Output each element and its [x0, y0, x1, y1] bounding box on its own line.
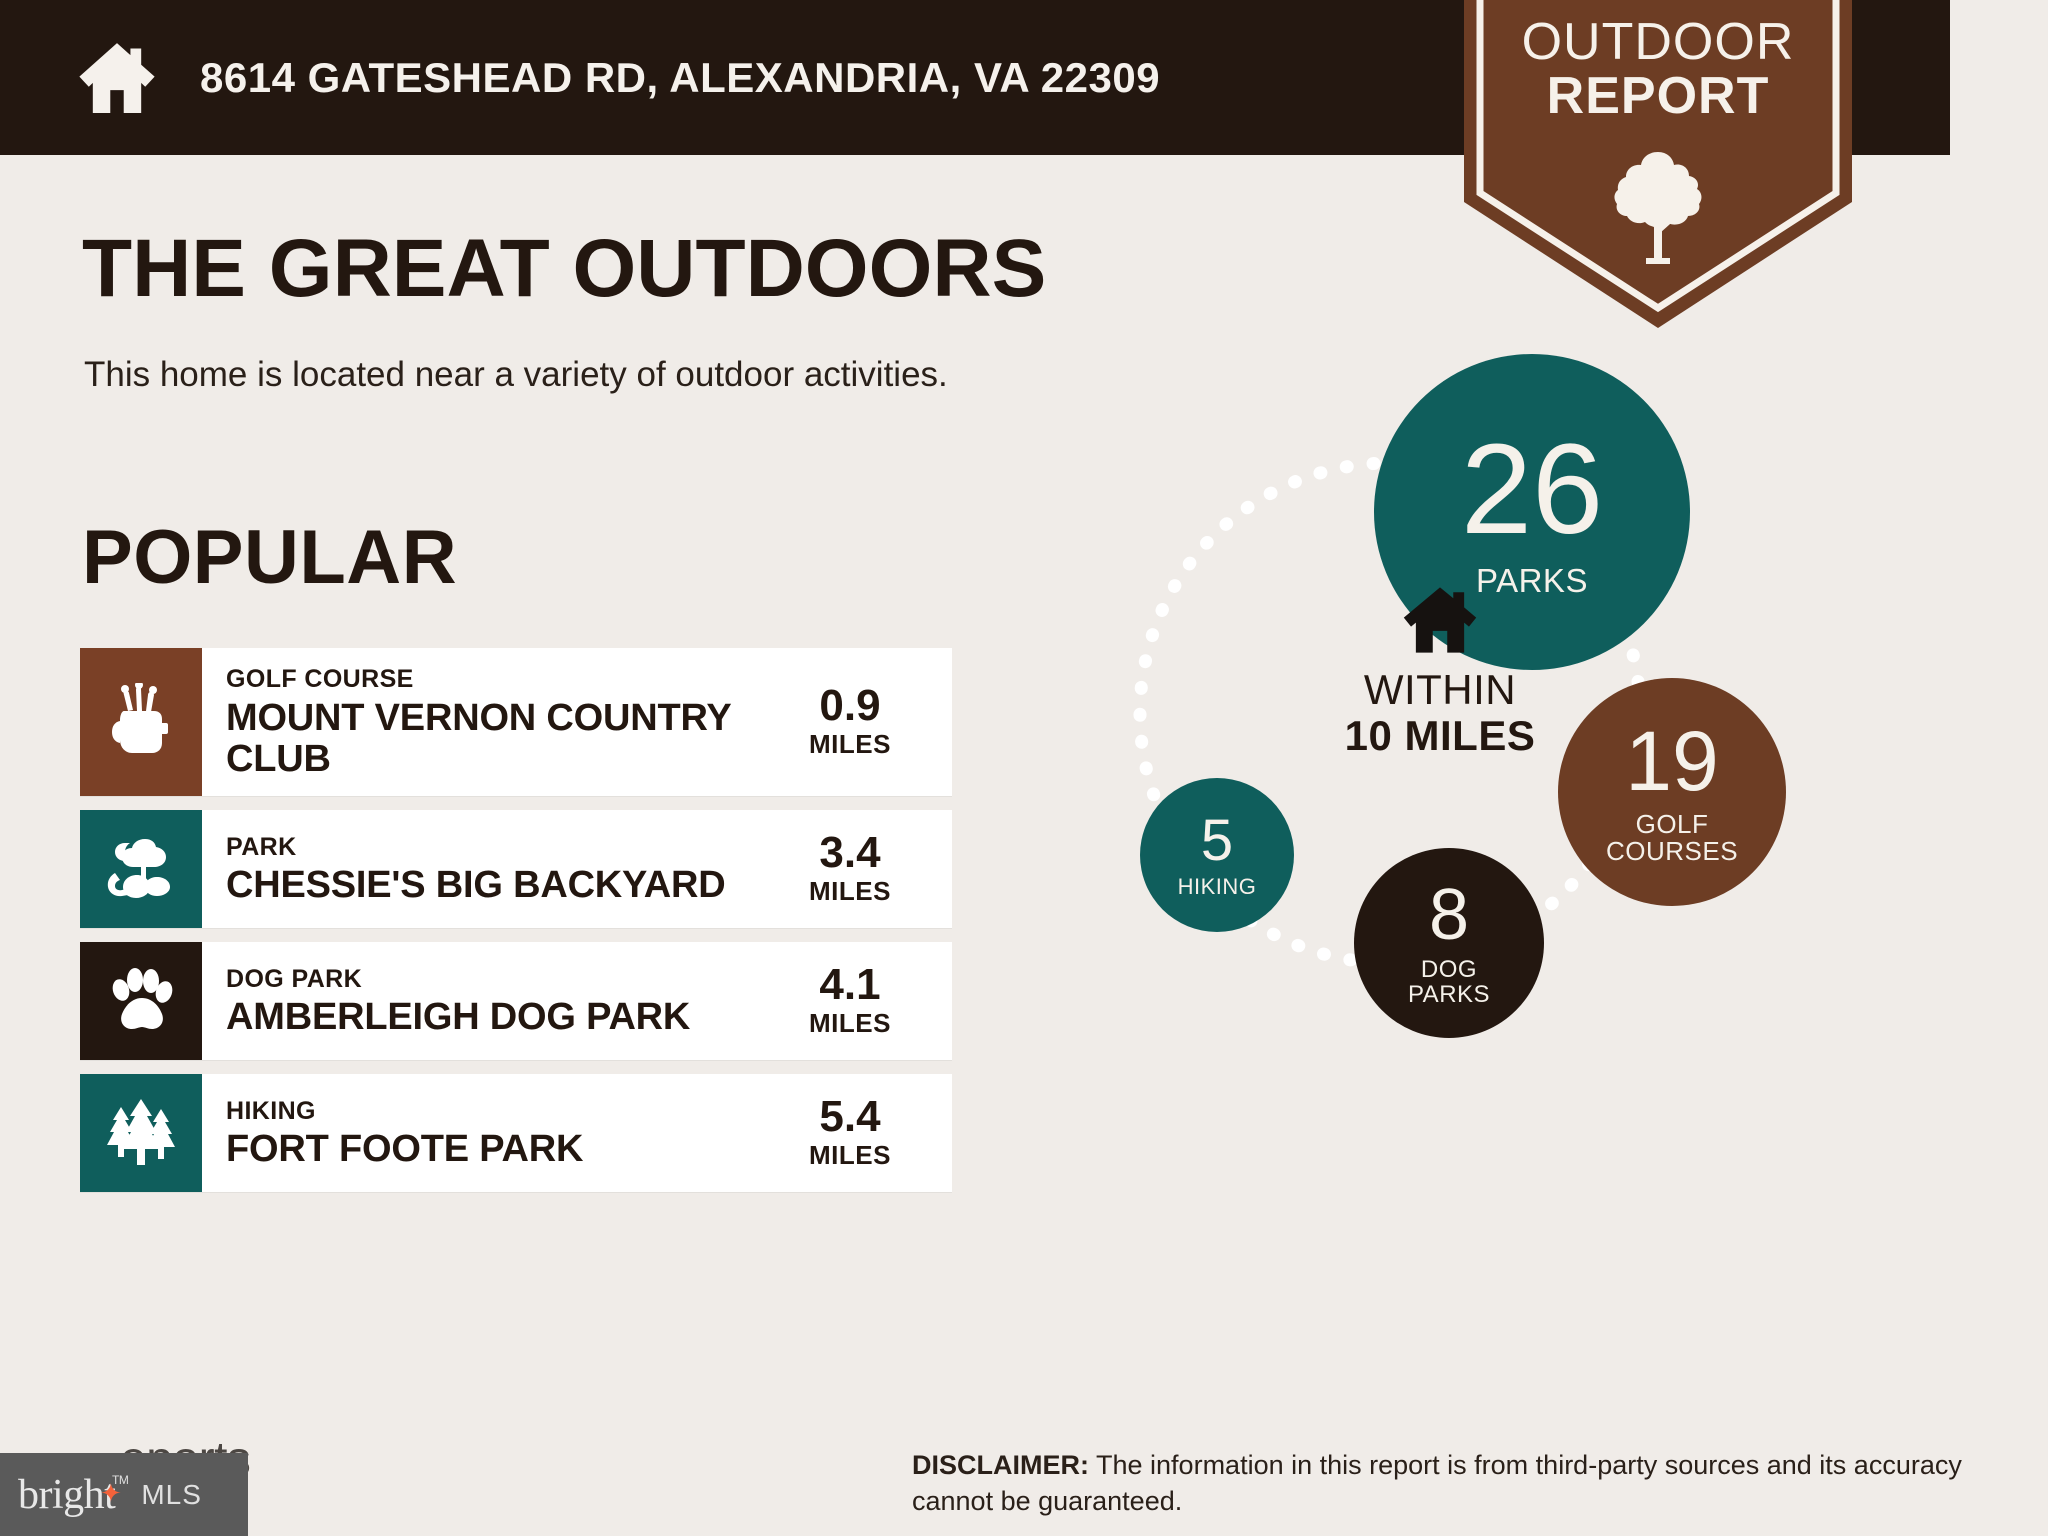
stat-bubble-golf-courses[interactable]: 19 GOLF COURSES — [1558, 678, 1786, 906]
center-line-distance: 10 MILES — [1290, 713, 1590, 759]
poi-category: GOLF COURSE — [226, 664, 780, 695]
poi-name: AMBERLEIGH DOG PARK — [226, 997, 780, 1038]
diagram-center-label: WITHIN 10 MILES — [1290, 585, 1590, 759]
poi-distance-value: 4.1 — [780, 963, 920, 1007]
paw-print-icon — [80, 942, 202, 1060]
poi-name: MOUNT VERNON COUNTRY CLUB — [226, 698, 780, 780]
list-item-body: PARK CHESSIE'S BIG BACKYARD 3.4 MILES — [202, 810, 952, 928]
pine-trees-icon — [80, 1074, 202, 1192]
stat-value: 26 — [1461, 426, 1603, 554]
trademark-symbol: TM — [112, 1473, 128, 1487]
poi-category: PARK — [226, 832, 780, 863]
stat-label: GOLF COURSES — [1606, 811, 1738, 866]
disclaimer-label: DISCLAIMER: — [912, 1450, 1089, 1480]
poi-distance: 4.1 MILES — [780, 963, 942, 1040]
stat-label-line2: COURSES — [1606, 836, 1738, 866]
home-icon — [74, 35, 160, 121]
list-item-body: HIKING FORT FOOTE PARK 5.4 MILES — [202, 1074, 952, 1192]
disclaimer: DISCLAIMER: The information in this repo… — [912, 1448, 1972, 1519]
popular-poi-list: GOLF COURSE MOUNT VERNON COUNTRY CLUB 0.… — [80, 648, 952, 1206]
tree-icon — [1464, 148, 1852, 266]
park-trees-icon — [80, 810, 202, 928]
page-title: THE GREAT OUTDOORS — [82, 228, 1046, 310]
stat-value: 8 — [1429, 879, 1469, 951]
bright-mls-watermark: bright ✦ TM MLS — [0, 1453, 248, 1536]
list-item-body: GOLF COURSE MOUNT VERNON COUNTRY CLUB 0.… — [202, 648, 952, 796]
list-item[interactable]: PARK CHESSIE'S BIG BACKYARD 3.4 MILES — [80, 810, 952, 928]
header-right-filler — [1950, 0, 2048, 155]
poi-distance-unit: MILES — [780, 728, 920, 761]
stat-label: HIKING — [1178, 875, 1257, 898]
poi-distance-unit: MILES — [780, 875, 920, 908]
poi-category: HIKING — [226, 1096, 780, 1127]
list-item[interactable]: DOG PARK AMBERLEIGH DOG PARK 4.1 MILES — [80, 942, 952, 1060]
stat-value: 5 — [1201, 812, 1233, 870]
stat-bubble-hiking[interactable]: 5 HIKING — [1140, 778, 1294, 932]
poi-name: CHESSIE'S BIG BACKYARD — [226, 865, 780, 906]
poi-distance-value: 3.4 — [780, 831, 920, 875]
poi-distance-value: 5.4 — [780, 1095, 920, 1139]
stat-label-line1: DOG — [1421, 956, 1477, 983]
mls-suffix-label: MLS — [141, 1479, 202, 1511]
stat-label-line1: GOLF — [1636, 809, 1709, 839]
poi-name: FORT FOOTE PARK — [226, 1129, 780, 1170]
list-item[interactable]: GOLF COURSE MOUNT VERNON COUNTRY CLUB 0.… — [80, 648, 952, 796]
poi-distance-value: 0.9 — [780, 684, 920, 728]
popular-section-heading: POPULAR — [82, 520, 457, 596]
bright-mls-brand: bright ✦ TM — [18, 1471, 115, 1519]
home-icon — [1401, 585, 1479, 655]
outdoor-report-badge: OUTDOOR REPORT — [1464, 0, 1852, 328]
stat-value: 19 — [1625, 719, 1718, 803]
outdoor-report-page: 8614 GATESHEAD RD, ALEXANDRIA, VA 22309 … — [0, 0, 2048, 1536]
stat-bubble-dog-parks[interactable]: 8 DOG PARKS — [1354, 848, 1544, 1038]
center-line-within: WITHIN — [1290, 667, 1590, 713]
poi-distance-unit: MILES — [780, 1007, 920, 1040]
within-10-miles-bubble-chart: 26 PARKS 19 GOLF COURSES 8 DOG PARKS 5 H… — [1090, 430, 1970, 1300]
poi-distance: 5.4 MILES — [780, 1095, 942, 1172]
list-item[interactable]: HIKING FORT FOOTE PARK 5.4 MILES — [80, 1074, 952, 1192]
stat-label: DOG PARKS — [1408, 957, 1490, 1007]
poi-distance-unit: MILES — [780, 1139, 920, 1172]
poi-distance: 0.9 MILES — [780, 684, 942, 761]
list-item-body: DOG PARK AMBERLEIGH DOG PARK 4.1 MILES — [202, 942, 952, 1060]
property-address: 8614 GATESHEAD RD, ALEXANDRIA, VA 22309 — [200, 54, 1160, 102]
golf-bag-icon — [80, 648, 202, 796]
stat-label-line2: PARKS — [1408, 981, 1490, 1008]
poi-distance: 3.4 MILES — [780, 831, 942, 908]
poi-category: DOG PARK — [226, 964, 780, 995]
page-subtitle: This home is located near a variety of o… — [84, 355, 948, 395]
